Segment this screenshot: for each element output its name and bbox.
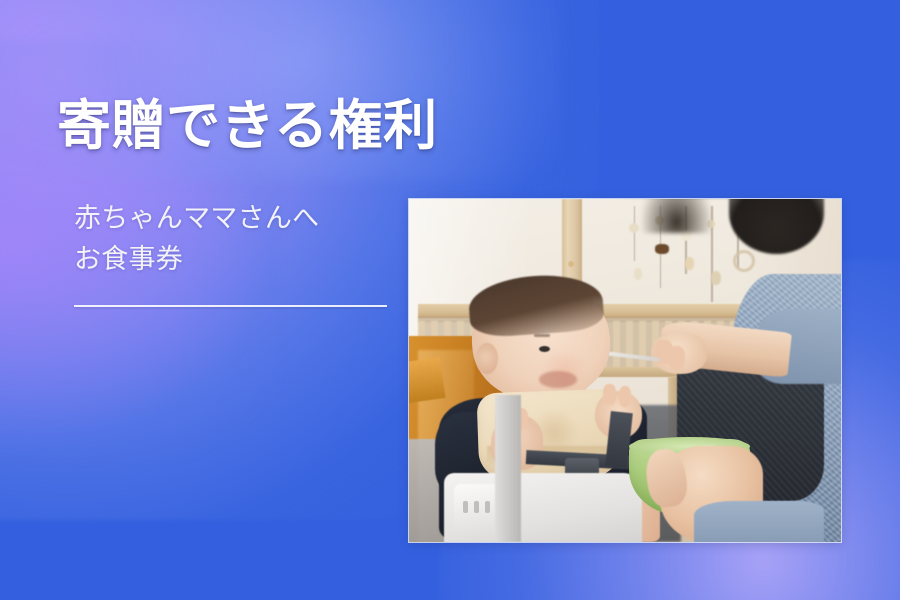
high-chair-arm	[409, 357, 446, 404]
crib-post-knob	[568, 261, 574, 267]
mother-finger	[668, 346, 685, 370]
baby-mouth	[539, 371, 578, 388]
subtitle-line-1: 赤ちゃんママさんへ	[74, 198, 319, 239]
baby-finger	[619, 386, 632, 407]
mobile-bead-dark	[655, 244, 669, 254]
photo-frame	[409, 199, 841, 542]
page-title: 寄贈できる権利	[57, 96, 438, 156]
banner-canvas: 寄贈できる権利 赤ちゃんママさんへ お食事券	[0, 0, 900, 600]
high-chair-post	[495, 395, 521, 542]
baby-finger	[603, 384, 616, 405]
photo-baby-feeding	[409, 199, 841, 542]
subtitle-block: 赤ちゃんママさんへ お食事券	[74, 198, 319, 280]
baby-ear	[476, 343, 498, 374]
tray-adjust-slot	[463, 501, 468, 513]
tray-adjust-slot	[485, 501, 490, 513]
mother-knee	[694, 501, 824, 542]
subtitle-line-2: お食事券	[74, 239, 319, 280]
text-column: 寄贈できる権利 赤ちゃんママさんへ お食事券	[0, 0, 409, 600]
tray-adjust-slot	[474, 501, 479, 513]
divider-rule	[74, 305, 387, 307]
mother-hair-wisp	[642, 199, 711, 233]
mobile-string	[634, 206, 636, 261]
mobile-bead	[634, 268, 642, 280]
